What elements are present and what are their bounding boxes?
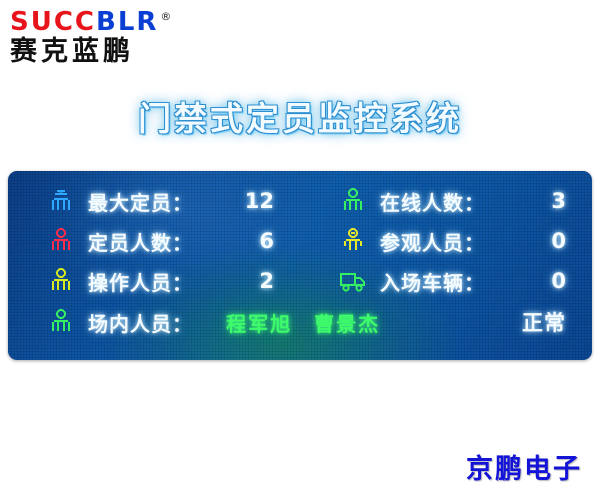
onsite-personnel-names: 程军旭 曹景杰 [212, 308, 380, 337]
person-icon [42, 267, 80, 295]
person-icon [42, 227, 80, 255]
led-value: 12 [193, 189, 300, 213]
led-value: 6 [193, 229, 300, 253]
led-field-max-capacity: 最大定员： 12 [8, 181, 300, 221]
registered-trademark-icon: ® [160, 11, 173, 22]
person-icon [334, 187, 372, 215]
logo-chinese-name: 赛克蓝鹏 [10, 37, 210, 67]
company-logo: SUCCBLR® 赛克蓝鹏 [10, 8, 210, 68]
led-row: 定员人数： 6 [8, 221, 592, 261]
led-label: 参观人员： [380, 227, 485, 256]
led-field-assigned-count: 定员人数： 6 [8, 221, 300, 261]
person-visitor-icon [334, 227, 372, 255]
logo-wordmark-succ: SUCC [10, 7, 96, 37]
logo-wordmark-blr: BLR [96, 7, 158, 37]
footer-brand: 京鹏电子 [466, 447, 582, 486]
led-label: 最大定员： [88, 187, 193, 216]
led-field-operator-count: 操作人员： 2 [8, 261, 300, 301]
person-hardhat-icon [42, 187, 80, 215]
led-value: 0 [485, 229, 592, 253]
led-field-online-count: 在线人数： 3 [300, 181, 592, 221]
app-root: SUCCBLR® 赛克蓝鹏 门禁式定员监控系统 [0, 0, 600, 500]
led-label: 定员人数： [88, 227, 193, 256]
led-label: 场内人员： [88, 308, 193, 337]
led-field-onsite-personnel: 场内人员： [8, 301, 212, 343]
led-label: 操作人员： [88, 267, 193, 296]
led-value: 2 [193, 269, 300, 293]
truck-icon [334, 269, 372, 293]
led-row: 操作人员： 2 入场车辆： [8, 261, 592, 301]
led-field-vehicle-count: 入场车辆： 0 [300, 261, 592, 301]
status-badge: 正常 [380, 307, 592, 337]
led-value: 0 [485, 269, 592, 293]
led-label: 在线人数： [380, 187, 485, 216]
led-display-panel: 最大定员： 12 [8, 171, 592, 360]
led-field-visitor-count: 参观人员： 0 [300, 221, 592, 261]
led-rows: 最大定员： 12 [8, 171, 592, 343]
logo-wordmark: SUCCBLR® [10, 8, 210, 36]
led-value: 3 [485, 189, 592, 213]
led-label: 入场车辆： [380, 267, 485, 296]
led-row: 最大定员： 12 [8, 181, 592, 221]
led-row-personnel: 场内人员： 程军旭 曹景杰 正常 [8, 301, 592, 343]
person-icon [42, 308, 80, 336]
page-title: 门禁式定员监控系统 [0, 92, 600, 140]
